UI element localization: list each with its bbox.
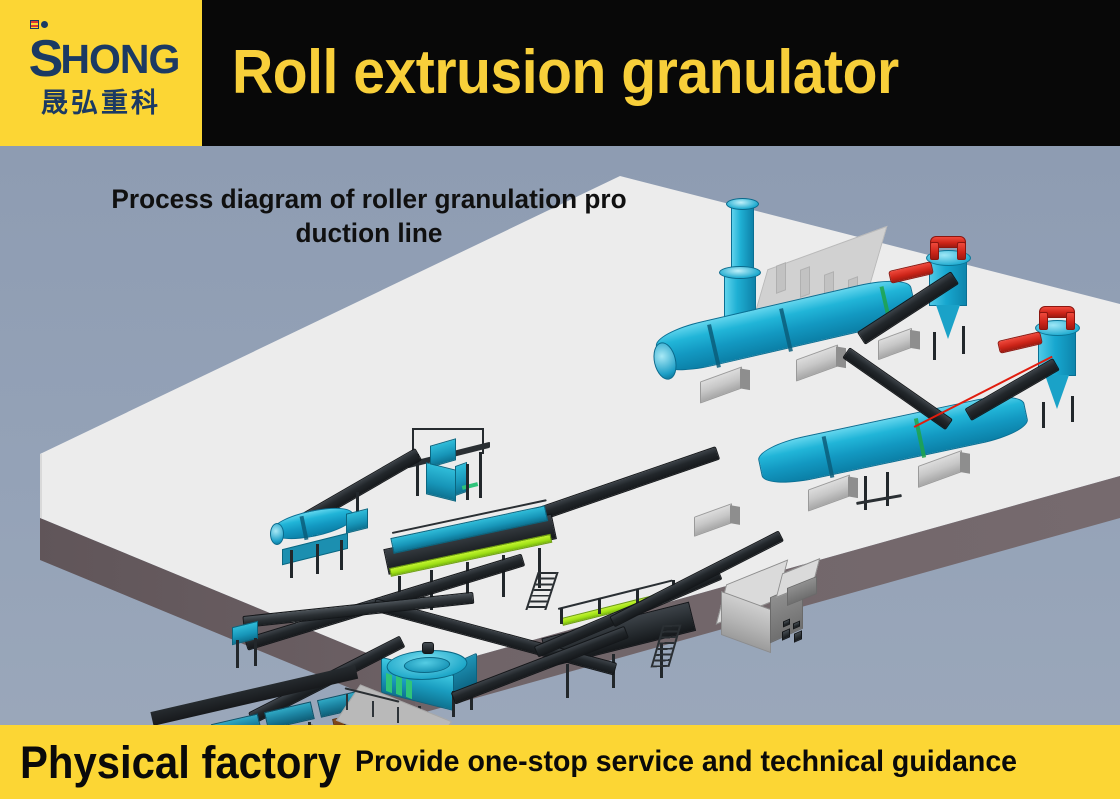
diagram-caption-line-1: Process diagram of roller granulation pr… bbox=[52, 182, 686, 216]
floor-inset-groove-2 bbox=[800, 266, 810, 298]
footer-headline: Physical factory bbox=[20, 740, 341, 785]
product-banner-page: SHONG 晟弘重科 Roll extrusion granulator bbox=[0, 0, 1120, 799]
cyclone-2-leg-a bbox=[1042, 402, 1045, 428]
coating-machine-leg-2 bbox=[316, 544, 319, 574]
granulator-green-panel-3 bbox=[406, 679, 412, 699]
base-side-face bbox=[740, 368, 750, 390]
fan-2-left-leg bbox=[1039, 312, 1048, 330]
packing-platform-leg-2 bbox=[479, 452, 482, 498]
cooler-frame-leg-1 bbox=[864, 476, 867, 510]
base-side-face bbox=[848, 476, 858, 498]
logo-chinese-name: 晟弘重科 bbox=[41, 90, 161, 117]
company-logo: SHONG 晟弘重科 bbox=[0, 0, 202, 146]
cyclone-2-leg-b bbox=[1071, 396, 1074, 422]
cooler-frame-leg-2 bbox=[886, 472, 889, 506]
coating-drum-cap bbox=[270, 523, 284, 545]
walkway-rail-post-1 bbox=[346, 694, 348, 710]
fan-1-right-leg bbox=[957, 242, 966, 260]
granulator-green-panel-1 bbox=[386, 673, 392, 693]
drive-unit-leg-2 bbox=[254, 638, 257, 666]
secondary-screening-rail-post-1 bbox=[560, 608, 563, 624]
fan-2-right-leg bbox=[1066, 312, 1075, 330]
disc-granulator-motor bbox=[422, 642, 434, 654]
packing-platform-leg-3 bbox=[466, 464, 469, 500]
logo-bars-icon bbox=[30, 20, 39, 29]
base-side-face bbox=[730, 505, 740, 525]
logo-dot-icon bbox=[41, 21, 48, 28]
secondary-screening-leg-1 bbox=[566, 664, 569, 698]
header-title-block: Roll extrusion granulator bbox=[202, 0, 1120, 146]
logo-wordmark: SHONG bbox=[23, 30, 180, 82]
fan-1-left-leg bbox=[930, 242, 939, 260]
page-title: Roll extrusion granulator bbox=[232, 42, 899, 104]
cyclone-1-cone bbox=[936, 305, 960, 339]
drive-unit-leg-1 bbox=[236, 640, 239, 668]
footer-bar: Physical factory Provide one-stop servic… bbox=[0, 725, 1120, 799]
process-diagram-scene: Process diagram of roller granulation pr… bbox=[0, 146, 1120, 725]
chimney-stack-mid-lip bbox=[719, 266, 761, 279]
secondary-screening-rail-post-2 bbox=[598, 598, 601, 614]
coating-machine-leg-1 bbox=[290, 550, 293, 578]
base-side-face bbox=[910, 330, 920, 350]
floor-inset-groove-1 bbox=[776, 262, 786, 294]
walkway-rail-post-3 bbox=[397, 707, 399, 723]
diagram-caption: Process diagram of roller granulation pr… bbox=[52, 182, 686, 250]
coating-machine-leg-3 bbox=[340, 540, 343, 570]
cyclone-1-leg-a bbox=[933, 332, 936, 360]
logo-wordmark-initial: S bbox=[29, 30, 61, 88]
logo-emblem-icon bbox=[30, 18, 52, 30]
granulator-green-panel-2 bbox=[396, 676, 402, 696]
cyclone-1-leg-b bbox=[962, 326, 965, 354]
base-side-face bbox=[960, 452, 970, 474]
cyclone-2-cone bbox=[1045, 375, 1069, 409]
diagram-caption-line-2: duction line bbox=[52, 216, 686, 250]
chimney-stack-top-lip bbox=[726, 198, 759, 210]
footer-subline: Provide one-stop service and technical g… bbox=[355, 747, 1017, 777]
walkway-rail-post-2 bbox=[372, 701, 374, 717]
header-bar: SHONG 晟弘重科 Roll extrusion granulator bbox=[0, 0, 1120, 146]
logo-wordmark-rest: HONG bbox=[60, 36, 179, 82]
